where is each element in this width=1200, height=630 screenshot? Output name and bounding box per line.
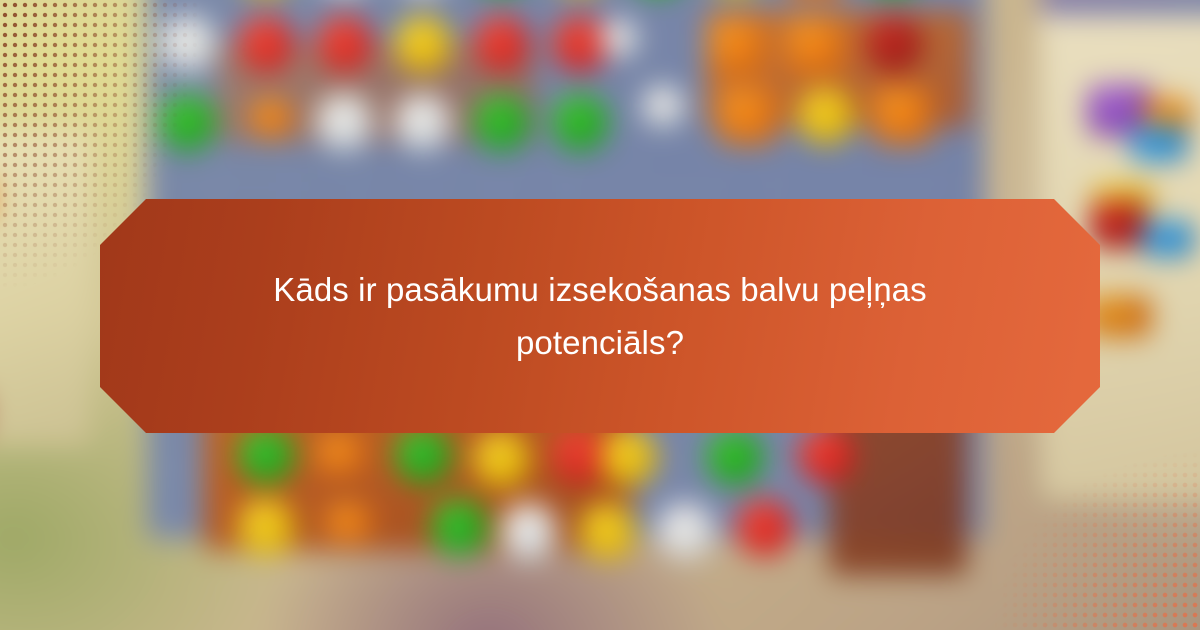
game-gem	[708, 17, 765, 74]
game-left-panel	[0, 130, 91, 448]
game-gem	[237, 15, 294, 72]
social-card: Kāds ir pasākumu izsekošanas balvu peļņa…	[0, 0, 1200, 630]
game-gem	[316, 433, 365, 475]
game-gem	[237, 426, 294, 483]
game-gem	[787, 17, 844, 74]
game-gem	[797, 87, 854, 144]
game-gem	[394, 15, 451, 72]
game-gem	[500, 503, 557, 560]
game-gem	[237, 498, 294, 555]
game-gem	[473, 15, 530, 72]
game-gem	[394, 426, 451, 483]
game-gem	[250, 98, 292, 140]
game-right-panel-item	[1141, 221, 1194, 257]
headline-text: Kāds ir pasākumu izsekošanas balvu peļņa…	[200, 263, 1000, 370]
game-right-panel-item	[1090, 202, 1147, 249]
headline-banner: Kāds ir pasākumu izsekošanas balvu peļņa…	[100, 199, 1100, 433]
game-gem	[430, 498, 487, 555]
game-gem	[551, 93, 608, 150]
game-gem	[159, 15, 216, 72]
game-gem	[736, 498, 793, 555]
game-gem	[657, 503, 714, 560]
game-gem	[797, 426, 854, 483]
game-right-panel-header	[1040, 0, 1200, 15]
game-gem	[719, 87, 776, 144]
game-gem	[579, 503, 636, 560]
game-gem	[324, 503, 373, 543]
game-gem	[706, 428, 763, 485]
game-gem	[865, 15, 922, 72]
game-gem	[473, 93, 530, 150]
game-gem	[642, 85, 684, 127]
game-gem	[873, 87, 930, 144]
game-right-panel-item	[1130, 125, 1187, 161]
game-gem	[394, 93, 451, 150]
game-gem	[600, 428, 657, 485]
game-gem	[600, 19, 638, 57]
game-gem	[473, 431, 530, 488]
game-gem	[159, 93, 216, 150]
game-gem	[316, 15, 373, 72]
game-gem	[316, 93, 373, 150]
